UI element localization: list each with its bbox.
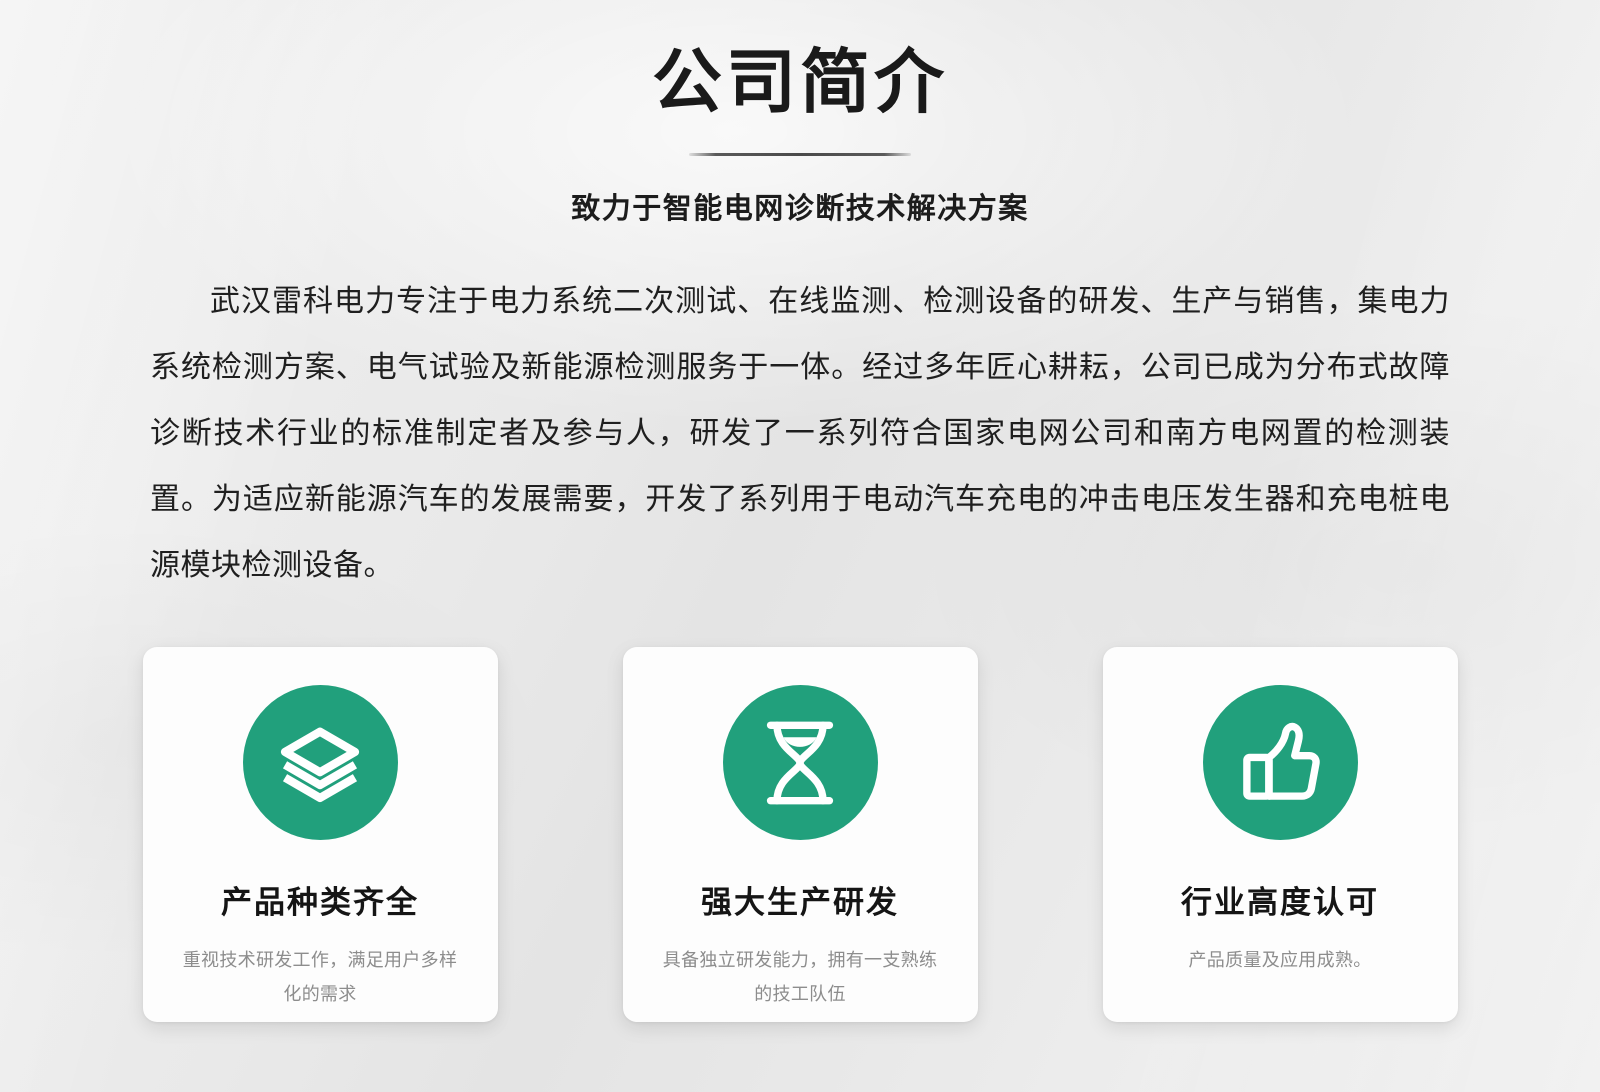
company-intro-paragraph: 武汉雷科电力专注于电力系统二次测试、在线监测、检测设备的研发、生产与销售，集电力… [150, 269, 1450, 599]
thumbs-up-icon [1203, 685, 1358, 840]
layers-icon [243, 685, 398, 840]
page-title: 公司简介 [0, 44, 1600, 121]
feature-card[interactable]: 产品种类齐全 重视技术研发工作，满足用户多样化的需求 [143, 647, 498, 1022]
feature-card-title: 行业高度认可 [1181, 877, 1379, 922]
company-profile-page: 公司简介 致力于智能电网诊断技术解决方案 武汉雷科电力专注于电力系统二次测试、在… [0, 0, 1600, 1092]
feature-card-description: 重视技术研发工作，满足用户多样化的需求 [175, 943, 465, 1011]
feature-card[interactable]: 强大生产研发 具备独立研发能力，拥有一支熟练的技工队伍 [623, 647, 978, 1022]
hourglass-icon [723, 685, 878, 840]
page-header: 公司简介 致力于智能电网诊断技术解决方案 [0, 0, 1600, 227]
feature-card[interactable]: 行业高度认可 产品质量及应用成熟。 [1103, 647, 1458, 1022]
feature-card-list: 产品种类齐全 重视技术研发工作，满足用户多样化的需求 [0, 647, 1600, 1022]
page-subtitle: 致力于智能电网诊断技术解决方案 [0, 185, 1600, 227]
feature-card-description: 具备独立研发能力，拥有一支熟练的技工队伍 [655, 943, 945, 1011]
feature-card-description: 产品质量及应用成熟。 [1135, 943, 1425, 977]
title-divider [689, 153, 911, 156]
feature-card-title: 强大生产研发 [701, 877, 899, 922]
feature-card-title: 产品种类齐全 [221, 877, 419, 922]
